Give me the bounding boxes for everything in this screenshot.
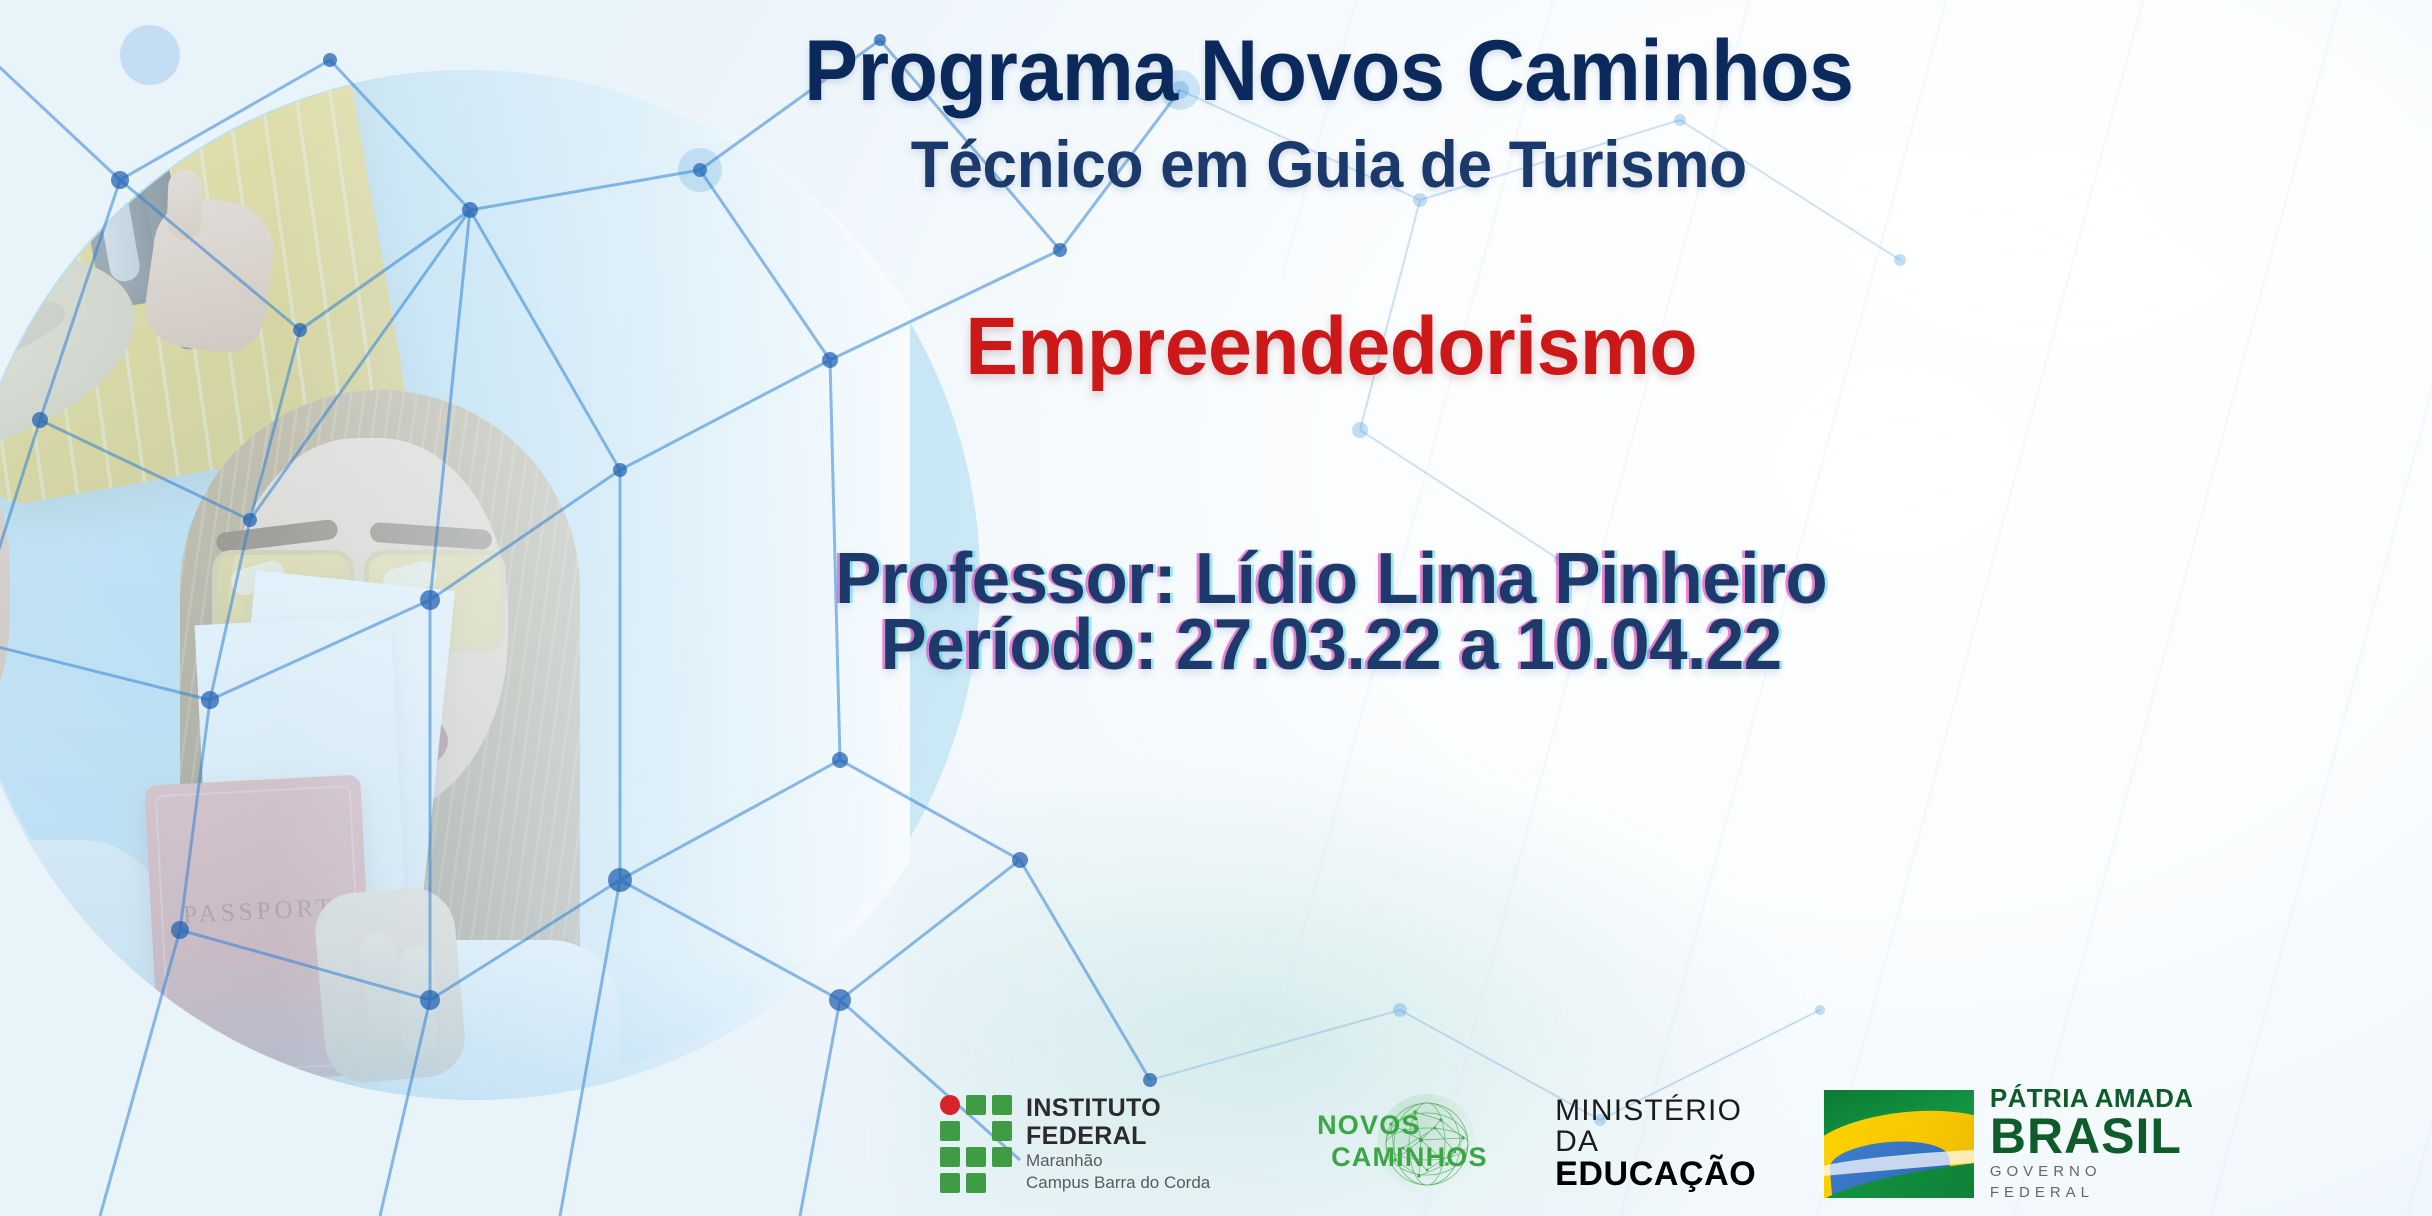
if-grid-cell xyxy=(966,1147,986,1167)
if-grid-dot-red xyxy=(940,1095,960,1115)
instituto-federal-line1: INSTITUTO FEDERAL xyxy=(1026,1095,1267,1150)
ministerio-da-educacao-logo: MINISTÉRIO DA EDUCAÇÃO xyxy=(1555,1096,1780,1192)
brasil-flag-emblem-icon xyxy=(1824,1090,1973,1198)
if-grid-cell xyxy=(992,1147,1012,1167)
page-title: Programa Novos Caminhos xyxy=(73,22,2359,121)
instituto-federal-logo: INSTITUTO FEDERAL Maranhão Campus Barra … xyxy=(940,1095,1267,1193)
course-program-title: Técnico em Guia de Turismo xyxy=(73,126,2359,202)
mec-text: MINISTÉRIO DA EDUCAÇÃO xyxy=(1555,1096,1780,1192)
novos-caminhos-line2: CAMINHOS xyxy=(1331,1142,1488,1173)
if-grid-cell-blank xyxy=(992,1173,1012,1193)
instituto-federal-grid-icon xyxy=(940,1095,1012,1193)
brasil-line3: GOVERNO FEDERAL xyxy=(1990,1161,2200,1203)
if-grid-cell xyxy=(966,1095,986,1115)
instituto-federal-text: INSTITUTO FEDERAL Maranhão Campus Barra … xyxy=(1026,1095,1267,1193)
institutional-logo-strip: INSTITUTO FEDERAL Maranhão Campus Barra … xyxy=(940,1084,2200,1204)
novos-caminhos-line1: NOVOS xyxy=(1317,1110,1421,1141)
novos-caminhos-logo: NOVOS CAMINHOS xyxy=(1315,1090,1521,1198)
if-grid-cell xyxy=(992,1121,1012,1141)
man-shirt xyxy=(0,840,170,1216)
if-grid-cell xyxy=(940,1121,960,1141)
if-grid-cell xyxy=(940,1147,960,1167)
brasil-line2: BRASIL xyxy=(1990,1112,2200,1161)
instituto-federal-line2: Maranhão xyxy=(1026,1150,1267,1171)
period-line: Período: 27.03.22 a 10.04.22 xyxy=(49,604,2384,686)
if-grid-cell xyxy=(966,1173,986,1193)
mec-line2: EDUCAÇÃO xyxy=(1555,1157,1780,1192)
course-subject-title: Empreendedorismo xyxy=(49,300,2384,394)
woman-finger-3 xyxy=(398,945,438,1056)
instituto-federal-line3: Campus Barra do Corda xyxy=(1026,1172,1267,1193)
course-announcement-banner: PASSPORT xyxy=(0,0,2432,1216)
patria-amada-brasil-logo: PÁTRIA AMADA BRASIL GOVERNO FEDERAL xyxy=(1824,1085,2200,1203)
if-grid-cell xyxy=(992,1095,1012,1115)
if-grid-cell-blank xyxy=(966,1121,986,1141)
mec-line1: MINISTÉRIO DA xyxy=(1555,1096,1780,1157)
brasil-text: PÁTRIA AMADA BRASIL GOVERNO FEDERAL xyxy=(1990,1085,2200,1203)
if-grid-cell xyxy=(940,1173,960,1193)
